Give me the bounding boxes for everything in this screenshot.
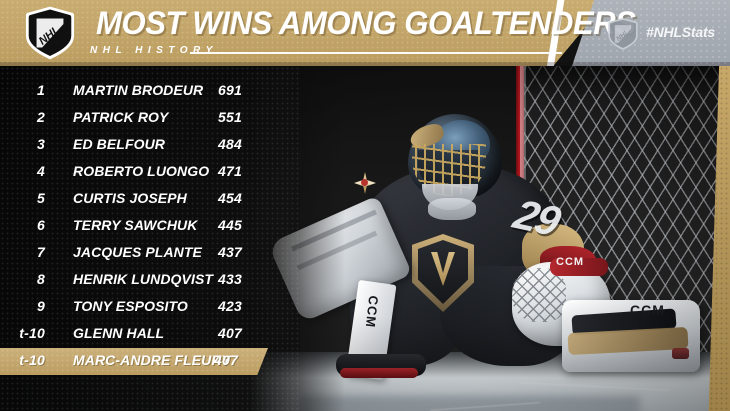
row-rank: 1	[0, 82, 45, 98]
leaderboard-list: 1MARTIN BRODEUR6912PATRICK ROY5513ED BEL…	[0, 78, 300, 375]
leaderboard-row: 3ED BELFOUR484	[0, 132, 300, 159]
ice-reflection	[300, 396, 640, 411]
leaderboard-row: t-10MARC-ANDRE FLEURY407	[0, 348, 300, 375]
leaderboard-row: 1MARTIN BRODEUR691	[0, 78, 300, 105]
page-title: MOST WINS AMONG GOALTENDERS	[96, 5, 552, 41]
throat-protector	[428, 198, 476, 220]
row-player-name: CURTIS JOSEPH	[73, 190, 187, 206]
row-rank: 4	[0, 163, 45, 179]
leaderboard-row: 6TERRY SAWCHUK445	[0, 213, 300, 240]
leaderboard-row: 5CURTIS JOSEPH454	[0, 186, 300, 213]
leaderboard-row: 4ROBERTO LUONGO471	[0, 159, 300, 186]
shoulder-star-center	[361, 179, 368, 186]
row-player-name: GLENN HALL	[73, 325, 164, 341]
goaltender-figure: 29 CCM CCM CCM	[300, 86, 700, 376]
row-wins-value: 407	[176, 352, 238, 368]
row-wins-value: 437	[180, 244, 242, 260]
skate-red-accent	[340, 368, 418, 378]
row-wins-value: 407	[180, 325, 242, 341]
row-rank: 8	[0, 271, 45, 287]
row-wins-value: 471	[180, 163, 242, 179]
row-rank: 7	[0, 244, 45, 260]
brand-logo-glove: CCM	[556, 256, 584, 268]
row-rank: 9	[0, 298, 45, 314]
leaderboard-row: 8HENRIK LUNDQVIST433	[0, 267, 300, 294]
row-wins-value: 433	[180, 271, 242, 287]
row-player-name: ED BELFOUR	[73, 136, 165, 152]
row-wins-value: 423	[180, 298, 242, 314]
row-wins-value: 445	[180, 217, 242, 233]
row-player-name: PATRICK ROY	[73, 109, 168, 125]
row-wins-value: 454	[180, 190, 242, 206]
row-rank: 2	[0, 109, 45, 125]
hashtag-label: #NHLStats	[646, 24, 715, 40]
row-player-name: TONY ESPOSITO	[73, 298, 188, 314]
page-subtitle: NHL HISTORY	[90, 45, 218, 56]
row-rank: t-10	[0, 325, 45, 341]
row-wins-value: 551	[180, 109, 242, 125]
header-bar: NHL MOST WINS AMONG GOALTENDERS NHL HIST…	[0, 0, 730, 66]
row-rank: t-10	[0, 352, 45, 368]
row-rank: 3	[0, 136, 45, 152]
leaderboard-row: 2PATRICK ROY551	[0, 105, 300, 132]
leaderboard-row: t-10GLENN HALL407	[0, 321, 300, 348]
leaderboard-row: 9TONY ESPOSITO423	[0, 294, 300, 321]
header-bottom-edge	[0, 62, 730, 66]
row-rank: 6	[0, 217, 45, 233]
nhl-shield-icon: NHL	[22, 5, 78, 61]
nhl-stats-graphic: 29 CCM CCM CCM	[0, 0, 730, 411]
glove-webbing	[512, 268, 566, 322]
row-wins-value: 691	[180, 82, 242, 98]
row-rank: 5	[0, 190, 45, 206]
leaderboard-row: 7JACQUES PLANTE437	[0, 240, 300, 267]
subtitle-rule	[190, 52, 562, 54]
row-player-name: TERRY SAWCHUK	[73, 217, 197, 233]
nhl-shield-icon-small: NHL	[606, 17, 640, 51]
row-wins-value: 484	[180, 136, 242, 152]
brand-logo-pad: CCM	[630, 302, 665, 318]
puck	[672, 348, 689, 359]
